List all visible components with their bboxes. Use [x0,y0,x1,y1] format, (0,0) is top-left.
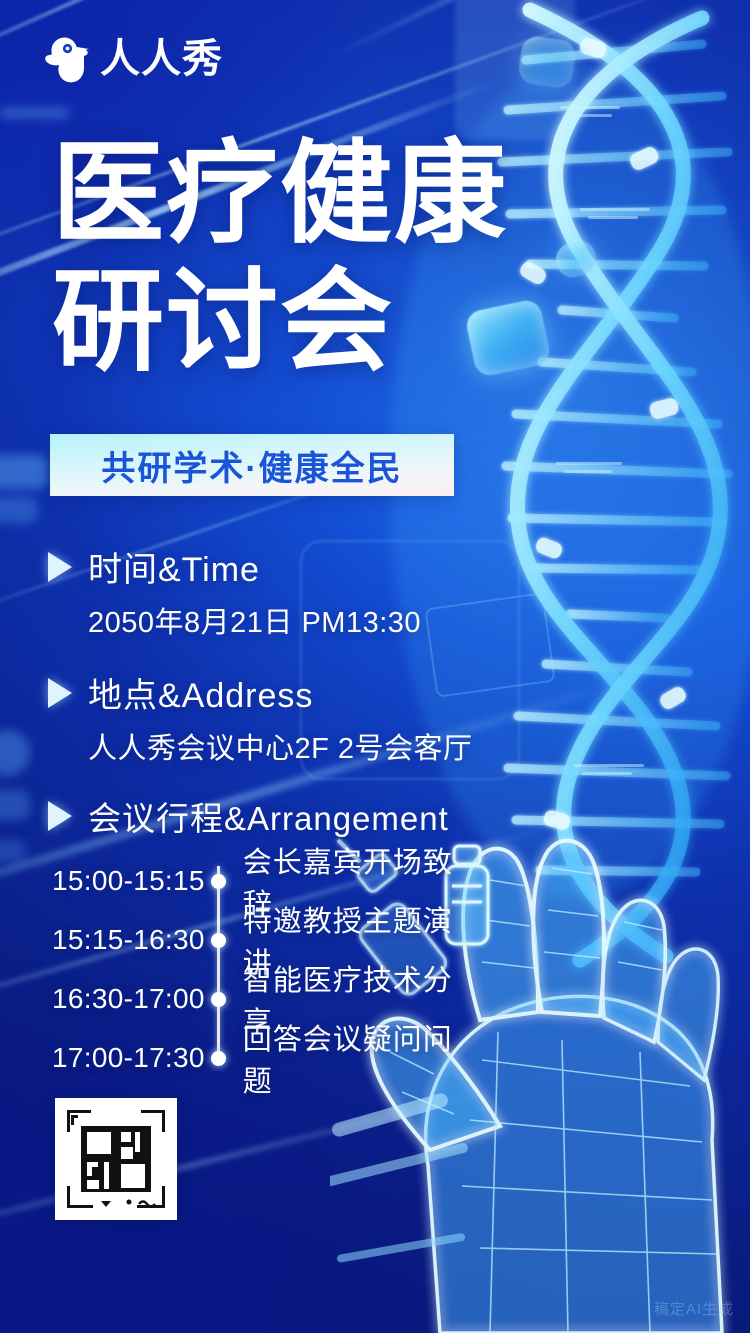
timeline-dot [211,1051,226,1066]
subtitle-banner: 共研学术·健康全民 [50,434,454,496]
schedule-activity: 回答会议疑问问题 [243,1016,472,1100]
schedule-time: 15:00-15:15 [52,865,205,897]
bokeh-block [0,455,48,489]
qr-code-graphic [63,1106,169,1212]
info-section-arrangement: 会议行程&Arrangement [48,792,449,840]
subtitle-text: 共研学术·健康全民 [101,441,402,490]
info-heading-arrangement: 会议行程&Arrangement [88,792,449,840]
floating-cube [517,34,577,89]
info-heading-row: 地点&Address [48,668,473,717]
info-heading-row: 会议行程&Arrangement [48,792,449,840]
bokeh-block [0,790,30,820]
timeline-dot [211,874,226,889]
brand-logo[interactable]: 人人秀 [44,34,223,84]
bokeh-block [0,108,70,118]
poster-root: 人人秀 医疗健康 研讨会 共研学术·健康全民 时间&Time 2050年8月21… [0,0,750,1333]
watermark: 稿定AI生成 [654,1298,734,1319]
info-heading-address: 地点&Address [88,668,313,717]
title-line-2: 研讨会 [52,266,508,378]
info-section-time: 时间&Time 2050年8月21日 PM13:30 [48,542,421,641]
timeline-dot [211,992,226,1007]
play-triangle-icon [48,678,72,708]
bokeh-block [0,840,26,862]
info-section-address: 地点&Address 人人秀会议中心2F 2号会客厅 [48,668,473,767]
play-triangle-icon [48,552,72,582]
bird-icon [44,34,90,84]
bokeh-block [0,497,38,523]
info-detail-address: 人人秀会议中心2F 2号会客厅 [88,725,473,767]
info-heading-time: 时间&Time [88,542,260,591]
timeline-dot [211,933,226,948]
schedule-time: 15:15-16:30 [52,924,205,956]
schedule-time: 17:00-17:30 [52,1042,205,1074]
schedule-row: 17:00-17:30 回答会议疑问问题 [52,1033,472,1083]
play-triangle-icon [48,801,72,831]
title-line-1: 医疗健康 [52,131,508,256]
info-detail-time: 2050年8月21日 PM13:30 [88,599,421,641]
page-title: 医疗健康 研讨会 [52,138,508,378]
qr-code[interactable] [55,1098,177,1220]
schedule-time: 16:30-17:00 [52,983,205,1015]
logo-text: 人人秀 [100,39,223,79]
info-heading-row: 时间&Time [48,542,421,591]
schedule-timeline: 15:00-15:15 会长嘉宾开场致辞 15:15-16:30 特邀教授主题演… [52,856,472,1092]
